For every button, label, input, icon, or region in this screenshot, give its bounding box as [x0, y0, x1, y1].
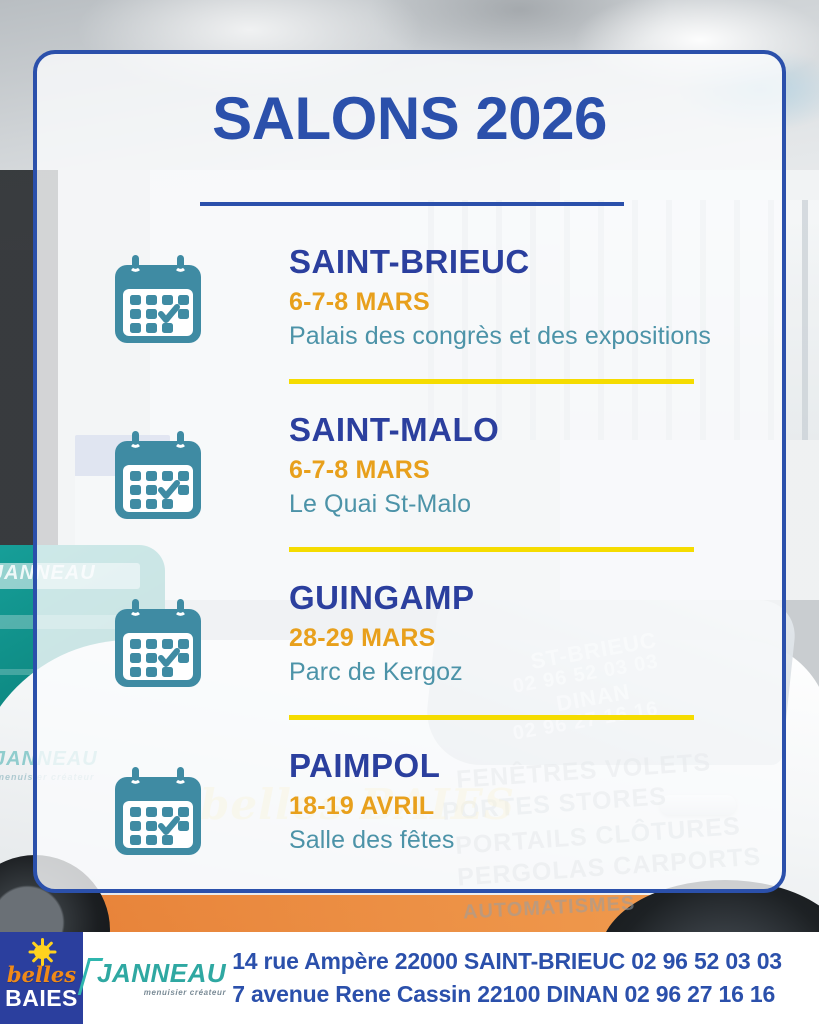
list-item[interactable]: GUINGAMP 28-29 MARS Parc de Kergoz	[37, 575, 782, 743]
belles-baies-script-word: belles	[7, 964, 76, 985]
footer-bar: belles BAIES JANNEAU menuisier créateur …	[0, 932, 819, 1024]
belles-baies-logo[interactable]: belles BAIES	[0, 932, 83, 1024]
janneau-logo-tagline: menuisier créateur	[97, 988, 226, 997]
address-line-dinan: 7 avenue Rene Cassin 22100 DINAN 02 96 2…	[232, 978, 819, 1011]
event-divider	[289, 379, 694, 384]
salons-card: SALONS 2026	[33, 50, 786, 893]
janneau-logo-name: JANNEAU	[97, 960, 226, 986]
list-item[interactable]: SAINT-MALO 6-7-8 MARS Le Quai St-Malo	[37, 407, 782, 575]
event-venue: Le Quai St-Malo	[289, 489, 762, 520]
event-dates: 28-29 MARS	[289, 623, 762, 653]
event-divider	[289, 715, 694, 720]
calendar-check-icon	[110, 765, 206, 861]
sun-icon	[25, 938, 59, 966]
event-dates: 18-19 AVRIL	[289, 791, 762, 821]
page-title: SALONS 2026	[37, 84, 782, 153]
address-line-saint-brieuc: 14 rue Ampère 22000 SAINT-BRIEUC 02 96 5…	[232, 945, 819, 978]
contact-address-block: 14 rue Ampère 22000 SAINT-BRIEUC 02 96 5…	[226, 932, 819, 1024]
event-divider	[289, 547, 694, 552]
event-city: SAINT-BRIEUC	[289, 239, 762, 281]
event-city: GUINGAMP	[289, 575, 762, 617]
event-dates: 6-7-8 MARS	[289, 287, 762, 317]
event-city: SAINT-MALO	[289, 407, 762, 449]
calendar-check-icon	[110, 597, 206, 693]
event-venue: Palais des congrès et des expositions	[289, 321, 762, 352]
belles-baies-bold-word: BAIES	[5, 987, 78, 1010]
events-list: SAINT-BRIEUC 6-7-8 MARS Palais des congr…	[37, 239, 782, 893]
list-item[interactable]: SAINT-BRIEUC 6-7-8 MARS Palais des congr…	[37, 239, 782, 407]
event-venue: Salle des fêtes	[289, 825, 762, 856]
event-dates: 6-7-8 MARS	[289, 455, 762, 485]
title-underline	[200, 202, 624, 206]
event-city: PAIMPOL	[289, 743, 762, 785]
calendar-check-icon	[110, 429, 206, 525]
list-item[interactable]: PAIMPOL 18-19 AVRIL Salle des fêtes	[37, 743, 782, 893]
janneau-logo[interactable]: JANNEAU menuisier créateur	[83, 932, 226, 1024]
calendar-check-icon	[110, 253, 206, 349]
event-venue: Parc de Kergoz	[289, 657, 762, 688]
